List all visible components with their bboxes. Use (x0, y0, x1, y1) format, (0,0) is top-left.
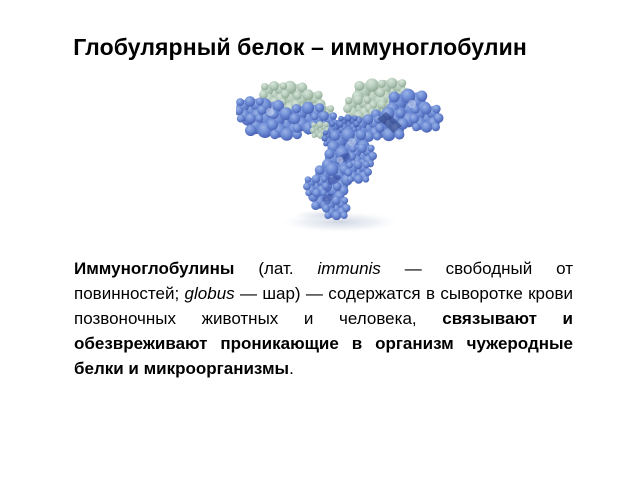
latin-term-immunis: immunis (318, 259, 381, 278)
body-paragraph: Иммуноглобулины (лат. immunis — свободны… (74, 256, 573, 381)
text-latin-open: (лат. (234, 259, 317, 278)
antibody-immunoglobulin-model (236, 72, 450, 240)
page-title: Глобулярный белок – иммуноглобулин (0, 33, 640, 61)
latin-term-globus: globus (185, 284, 235, 303)
slide-canvas: Глобулярный белок – иммуноглобулин (0, 0, 640, 480)
text-final-period: . (289, 359, 294, 378)
term-immunoglobulins: Иммуноглобулины (74, 259, 234, 278)
